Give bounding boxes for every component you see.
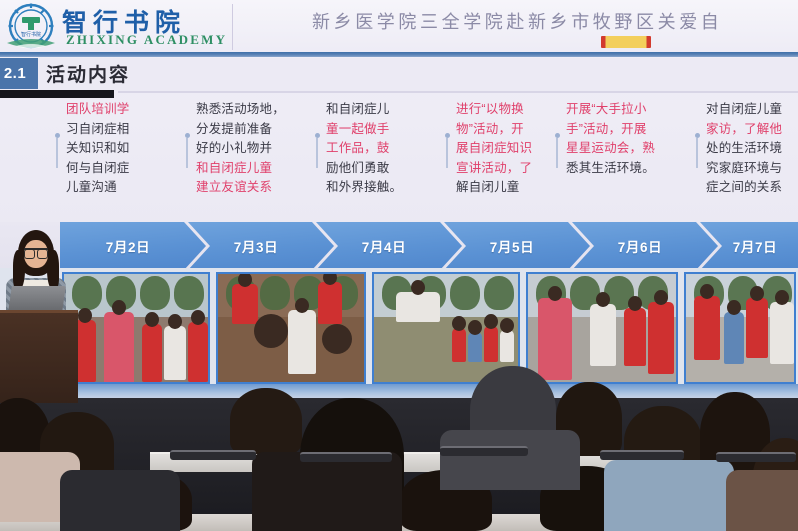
text-line: 熟悉活动场地，	[196, 102, 285, 116]
photo-person	[188, 322, 208, 382]
content-columns: 团队培训学习自闭症相关知识和如何与自闭症儿童沟通熟悉活动场地，分发提前准备好的小…	[0, 100, 798, 225]
photo-person-head	[168, 314, 182, 329]
accent-text-line: 星星运动会，熟	[566, 141, 655, 155]
photo-foliage	[260, 276, 290, 310]
laptop	[8, 286, 66, 312]
photo-person	[724, 312, 744, 364]
brand-rule	[0, 52, 798, 57]
column-tick-marker	[316, 138, 318, 168]
photo-person-head	[628, 296, 642, 311]
photo-person	[538, 298, 572, 380]
text-line: 症之间的关系	[706, 180, 782, 194]
glasses-icon	[24, 248, 48, 256]
photo-person	[624, 308, 646, 366]
audience-shoulders	[726, 470, 798, 531]
photo-person-head	[411, 280, 425, 295]
text-line: 励他们勇敢	[326, 161, 390, 175]
chevron-date-label: 7月2日	[106, 236, 150, 256]
brand-name-en: ZHIXING ACADEMY	[66, 32, 227, 48]
text-line: 处的生活环境	[706, 141, 782, 155]
column-text: 和自闭症儿童一起做手工作品，鼓励他们勇敢和外界接触。	[326, 100, 422, 198]
photo-person-head	[191, 310, 205, 325]
photo-foliage	[72, 276, 102, 310]
lecture-hall-scene: 智行书院 智行书院 ZHIXING ACADEMY 新乡医学院三全学院赴新乡市牧…	[0, 0, 798, 531]
photo-strip	[0, 268, 798, 388]
timeline-chevron-2: 7月3日	[188, 222, 334, 270]
text-line: 何与自闭症	[66, 161, 130, 175]
accent-text-line: 建立友谊关系	[196, 180, 272, 194]
photo-person-head	[78, 308, 92, 323]
accent-text-line: 家访，了解他	[706, 122, 782, 136]
photo-person	[770, 302, 794, 364]
text-line: 和外界接触。	[326, 180, 402, 194]
accent-text-line: 宣讲活动，了	[456, 161, 532, 175]
academy-emblem-icon: 智行书院	[4, 2, 58, 54]
column-text: 开展“大手拉小手”活动，开展星星运动会，熟悉其生活环境。	[566, 100, 662, 178]
photo-person	[232, 284, 258, 324]
photo-person-head	[238, 272, 252, 287]
accent-text-line: 和自闭症儿童	[196, 161, 272, 175]
photo-person	[322, 324, 352, 354]
photo-person	[648, 302, 674, 374]
column-text: 对自闭症儿童家访，了解他处的生活环境究家庭环境与症之间的关系	[706, 100, 798, 198]
column-tick-marker	[186, 138, 188, 168]
text-line: 分发提前准备	[196, 122, 272, 136]
photo-person	[746, 298, 768, 358]
chair-back	[170, 450, 256, 460]
photo-person-head	[596, 292, 610, 307]
accent-text-line: 工作品，鼓	[326, 141, 390, 155]
photo-person-head	[750, 286, 764, 301]
photo-person	[468, 332, 482, 362]
deck-title: 新乡医学院三全学院赴新乡市牧野区关爱自	[312, 8, 722, 34]
section-hairline	[118, 91, 798, 93]
laser-pointer-mark	[601, 36, 651, 48]
accent-text-line: 童一起做手	[326, 122, 390, 136]
photo-person-head	[145, 312, 159, 327]
chevron-date-label: 7月7日	[733, 236, 777, 256]
section-number-badge: 2.1	[0, 58, 38, 89]
chair-back	[600, 450, 684, 460]
audience-member	[230, 388, 302, 454]
content-column-3: 和自闭症儿童一起做手工作品，鼓励他们勇敢和外界接触。	[326, 100, 422, 220]
text-line: 和自闭症儿	[326, 102, 390, 116]
chevron-date-label: 7月3日	[234, 236, 278, 256]
photo-person	[396, 292, 440, 322]
chevron-date-label: 7月4日	[362, 236, 406, 256]
audience-shoulders	[252, 452, 402, 531]
slide-brand-bar: 智行书院 智行书院 ZHIXING ACADEMY 新乡医学院三全学院赴新乡市牧…	[0, 0, 798, 57]
photo-person	[694, 296, 720, 360]
section-header-row: 2.1 活动内容	[0, 58, 798, 91]
text-line: 悉其生活环境。	[566, 161, 655, 175]
chair-back	[440, 446, 528, 456]
photo-person	[254, 314, 288, 348]
column-text: 熟悉活动场地，分发提前准备好的小礼物并和自闭症儿童建立友谊关系	[196, 100, 292, 198]
column-text: 团队培训学习自闭症相关知识和如何与自闭症儿童沟通	[66, 100, 162, 198]
accent-text-line: 开展“大手拉小	[566, 102, 647, 116]
timeline-chevron-band: 7月2日7月3日7月4日7月5日7月6日7月7日	[0, 222, 798, 270]
text-line: 关知识和如	[66, 141, 130, 155]
chair-back	[716, 452, 796, 462]
svg-text:智行书院: 智行书院	[21, 31, 41, 38]
photo-thumbnail	[684, 272, 796, 384]
photo-person-head	[295, 298, 309, 313]
timeline-chevron-5: 7月6日	[572, 222, 718, 270]
photo-thumbnail	[62, 272, 210, 384]
photo-person	[590, 304, 616, 366]
section-title: 活动内容	[46, 60, 130, 87]
photo-person-head	[700, 284, 714, 299]
content-column-2: 熟悉活动场地，分发提前准备好的小礼物并和自闭症儿童建立友谊关系	[196, 100, 292, 220]
photo-foliage	[484, 276, 514, 310]
podium	[0, 310, 78, 403]
photo-person-head	[468, 320, 482, 335]
photo-person-head	[775, 290, 789, 305]
content-column-4: 进行“以物换物”活动，开展自闭症知识宣讲活动，了解自闭儿童	[456, 100, 552, 220]
photo-person-head	[452, 316, 466, 331]
photo-thumbnail	[216, 272, 366, 384]
content-column-5: 开展“大手拉小手”活动，开展星星运动会，熟悉其生活环境。	[566, 100, 662, 220]
audience-shoulders	[440, 430, 580, 490]
photo-foliage	[450, 276, 480, 310]
photo-person	[452, 328, 466, 362]
column-tick-marker	[696, 138, 698, 168]
photo-person-head	[484, 314, 498, 329]
photo-person	[288, 310, 316, 374]
photo-person-head	[727, 300, 741, 315]
photo-person-head	[112, 300, 126, 315]
chevron-date-label: 7月5日	[490, 236, 534, 256]
content-column-1: 团队培训学习自闭症相关知识和如何与自闭症儿童沟通	[66, 100, 162, 220]
accent-text-line: 展自闭症知识	[456, 141, 532, 155]
timeline-chevron-4: 7月5日	[444, 222, 590, 270]
chair-back	[300, 452, 392, 462]
photo-person	[142, 324, 162, 382]
text-line: 究家庭环境与	[706, 161, 782, 175]
photo-person	[104, 312, 134, 384]
text-line: 习自闭症相	[66, 122, 130, 136]
photo-person-head	[500, 318, 514, 333]
timeline-chevron-3: 7月4日	[316, 222, 462, 270]
photo-person	[484, 326, 498, 362]
photo-person-head	[548, 286, 562, 301]
photo-foliage	[174, 276, 204, 310]
chevron-date-label: 7月6日	[618, 236, 662, 256]
photo-foliage	[140, 276, 170, 310]
audience-shoulders	[604, 460, 734, 531]
audience-shoulders	[60, 470, 180, 531]
column-text: 进行“以物换物”活动，开展自闭症知识宣讲活动，了解自闭儿童	[456, 100, 552, 198]
accent-text-line: 手”活动，开展	[566, 122, 647, 136]
photo-person	[500, 330, 514, 362]
timeline-chevron-1: 7月2日	[60, 222, 206, 270]
photo-person	[318, 282, 342, 324]
brand-divider	[232, 4, 233, 50]
text-line: 解自闭儿童	[456, 180, 520, 194]
column-tick-marker	[56, 138, 58, 168]
column-tick-marker	[446, 138, 448, 168]
accent-text-line: 进行“以物换	[456, 102, 524, 116]
text-line: 好的小礼物并	[196, 141, 272, 155]
section-underbar	[0, 90, 114, 98]
photo-person	[164, 326, 186, 380]
text-line: 对自闭症儿童	[706, 102, 782, 116]
projected-slide: 智行书院 智行书院 ZHIXING ACADEMY 新乡医学院三全学院赴新乡市牧…	[0, 0, 798, 400]
content-column-6: 对自闭症儿童家访，了解他处的生活环境究家庭环境与症之间的关系	[706, 100, 798, 220]
accent-text-line: 团队培训学	[66, 102, 130, 116]
column-tick-marker	[556, 138, 558, 168]
photo-thumbnail	[526, 272, 678, 384]
accent-text-line: 物”活动，开	[456, 122, 524, 136]
photo-person-head	[654, 290, 668, 305]
text-line: 儿童沟通	[66, 180, 117, 194]
